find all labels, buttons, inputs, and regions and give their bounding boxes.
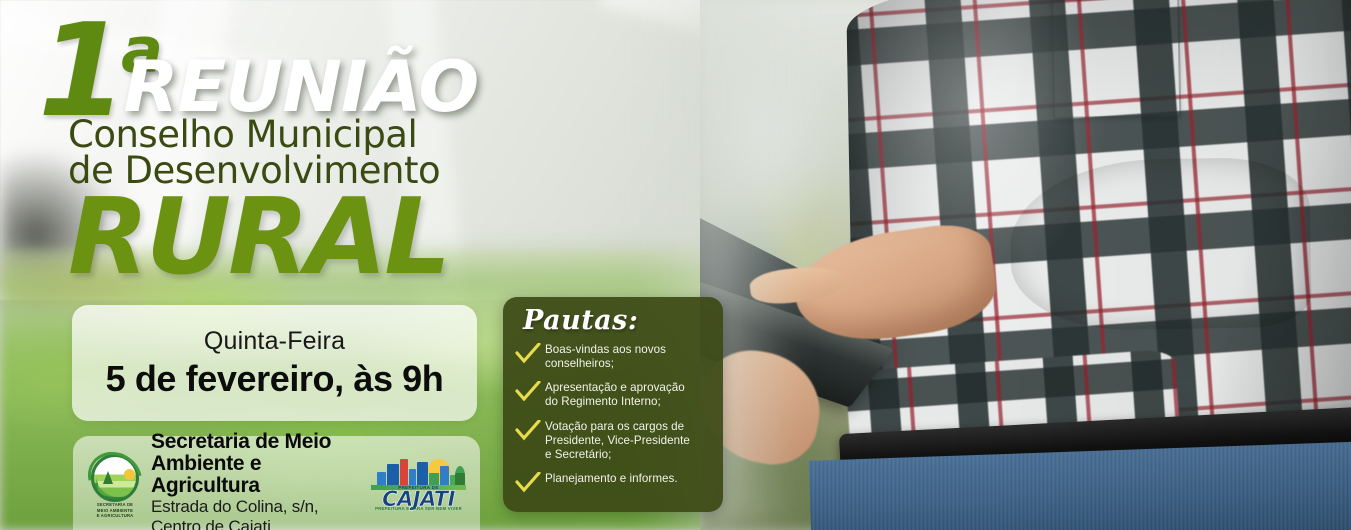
cajati-tagline: PREFEITURA E PARA SER BEM VIVER (371, 506, 466, 511)
check-icon (515, 420, 541, 442)
agenda-item: Apresentação e aprovação do Regimento In… (515, 378, 713, 409)
check-icon (515, 343, 541, 365)
agenda-item: Planejamento e informes. (515, 469, 713, 494)
cajati-building (387, 464, 399, 486)
check-icon (515, 381, 541, 403)
event-banner: 1a REUNIÃO Conselho Municipal de Desenvo… (0, 0, 1351, 530)
secretariat-text-block: Secretaria de Meio Ambiente e Agricultur… (151, 431, 371, 530)
agenda-item-label: Apresentação e aprovação do Regimento In… (545, 378, 685, 409)
secretariat-logo-caption: SECRETARIA DE MEIO AMBIENTE E AGRICULTUR… (87, 502, 143, 519)
agenda-item-label: Planejamento e informes. (545, 469, 678, 486)
agenda-title: Pautas: (523, 307, 713, 334)
agenda-item: Boas-vindas aos novos conselheiros; (515, 340, 713, 371)
cajati-building (377, 472, 386, 486)
date-card: Quinta-Feira 5 de fevereiro, às 9h (72, 305, 477, 421)
agenda-item-label: Votação para os cargos de Presidente, Vi… (545, 417, 690, 462)
headline-reuniao: REUNIÃO (124, 52, 479, 122)
check-icon (515, 472, 541, 494)
event-weekday: Quinta-Feira (204, 327, 345, 356)
cajati-building (409, 469, 416, 486)
headline-rural: RURAL (68, 185, 448, 290)
headline-block: 1a REUNIÃO Conselho Municipal de Desenvo… (0, 0, 520, 300)
cajati-city-logo: PREFEITURA DE CAJATI PREFEITURA E PARA S… (371, 456, 466, 512)
cajati-building (440, 466, 449, 486)
secretariat-name: Secretaria de Meio Ambiente e Agricultur… (151, 431, 371, 496)
cajati-building (400, 459, 408, 486)
secretariat-logo-icon: SECRETARIA DE MEIO AMBIENTE E AGRICULTUR… (87, 454, 143, 514)
cajati-palm-icon (455, 466, 465, 486)
agenda-item-label: Boas-vindas aos novos conselheiros; (545, 340, 666, 371)
agenda-item: Votação para os cargos de Presidente, Vi… (515, 417, 713, 462)
footer-card: SECRETARIA DE MEIO AMBIENTE E AGRICULTUR… (73, 436, 480, 530)
agenda-card: Pautas: Boas-vindas aos novos conselheir… (503, 297, 723, 512)
cajati-building (417, 462, 428, 486)
event-date-time: 5 de fevereiro, às 9h (106, 358, 444, 400)
secretariat-address: Estrada do Colina, s/n, Centro de Cajati (151, 497, 371, 530)
